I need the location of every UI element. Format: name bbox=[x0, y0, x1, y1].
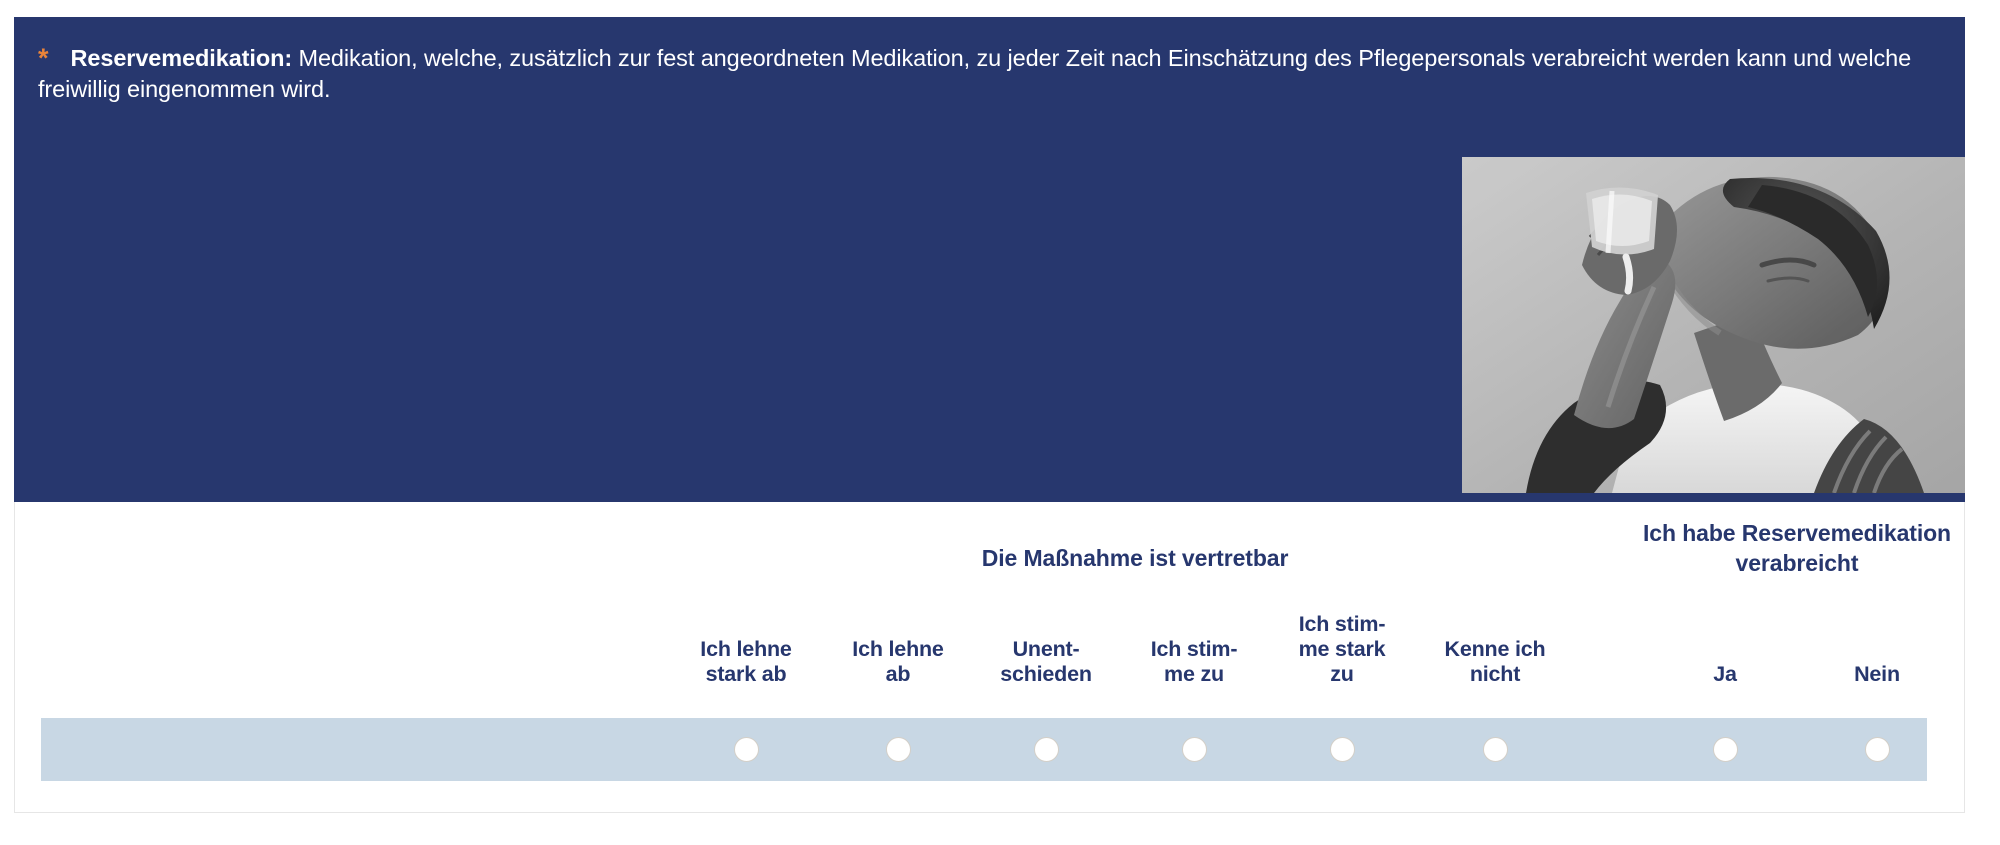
radio-ja[interactable] bbox=[1713, 737, 1738, 762]
column-header-line: me zu bbox=[1114, 662, 1274, 687]
answer-panel: Die Maßnahme ist vertretbar Ich habe Res… bbox=[14, 502, 1965, 813]
column-header-line: Ich lehne bbox=[666, 637, 826, 662]
question-text-block: *Reservemedikation: Medikation, welche, … bbox=[38, 43, 1937, 106]
column-header-line: Ich lehne bbox=[818, 637, 978, 662]
radio-stimme-stark-zu[interactable] bbox=[1330, 737, 1355, 762]
column-header-line: stark ab bbox=[666, 662, 826, 687]
group-header-yesno: Ich habe Reservemedikation verabreicht bbox=[1623, 519, 1971, 579]
group-header-yesno-text: Ich habe Reservemedikation verabreicht bbox=[1643, 520, 1951, 576]
column-header-kenne-ich-nicht: Kenne ichnicht bbox=[1415, 637, 1575, 687]
column-header-line: nicht bbox=[1415, 662, 1575, 687]
question-term-label: Reservemedikation: bbox=[71, 45, 293, 71]
radio-lehne-ab[interactable] bbox=[886, 737, 911, 762]
radio-lehne-stark-ab[interactable] bbox=[734, 737, 759, 762]
column-header-line: Ich stim- bbox=[1262, 612, 1422, 637]
required-asterisk-icon: * bbox=[38, 45, 49, 72]
column-header-line: Kenne ich bbox=[1415, 637, 1575, 662]
column-header-line: zu bbox=[1262, 662, 1422, 687]
column-header-stimme-zu: Ich stim-me zu bbox=[1114, 637, 1274, 687]
column-header-line: Ja bbox=[1645, 662, 1805, 687]
column-header-ja: Ja bbox=[1645, 662, 1805, 687]
column-header-line: Nein bbox=[1797, 662, 1957, 687]
column-header-line: me stark bbox=[1262, 637, 1422, 662]
column-header-line: schieden bbox=[966, 662, 1126, 687]
column-header-line: ab bbox=[818, 662, 978, 687]
column-header-stimme-stark-zu: Ich stim-me starkzu bbox=[1262, 612, 1422, 687]
column-header-line: Ich stim- bbox=[1114, 637, 1274, 662]
answer-option-row bbox=[41, 718, 1927, 781]
column-header-line: Unent- bbox=[966, 637, 1126, 662]
survey-question-page: *Reservemedikation: Medikation, welche, … bbox=[0, 0, 2000, 845]
radio-unentschieden[interactable] bbox=[1034, 737, 1059, 762]
column-header-lehne-ab: Ich lehneab bbox=[818, 637, 978, 687]
group-header-likert: Die Maßnahme ist vertretbar bbox=[909, 544, 1361, 574]
question-definition-text: Medikation, welche, zusätzlich zur fest … bbox=[38, 45, 1911, 102]
radio-nein[interactable] bbox=[1865, 737, 1890, 762]
radio-kenne-ich-nicht[interactable] bbox=[1483, 737, 1508, 762]
radio-stimme-zu[interactable] bbox=[1182, 737, 1207, 762]
column-header-nein: Nein bbox=[1797, 662, 1957, 687]
question-panel: *Reservemedikation: Medikation, welche, … bbox=[14, 17, 1965, 502]
question-illustration-image bbox=[1462, 157, 1965, 493]
column-header-lehne-stark-ab: Ich lehnestark ab bbox=[666, 637, 826, 687]
column-header-unentschieden: Unent-schieden bbox=[966, 637, 1126, 687]
